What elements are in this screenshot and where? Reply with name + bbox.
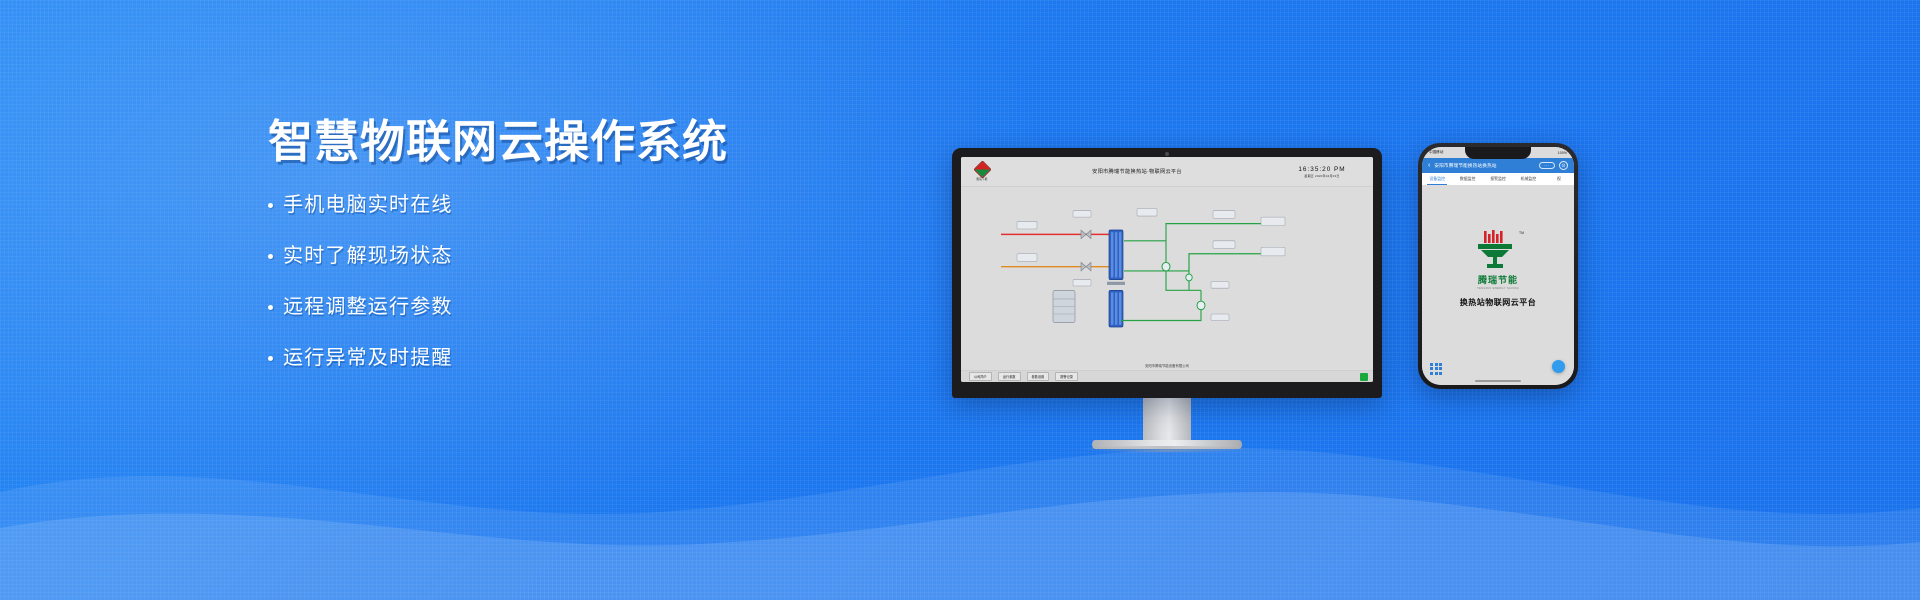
monitor-screen: 腾瑞节能 安阳市腾瑞节能换热站·物联网云平台 16:35:20 PM 星期五 2…: [961, 157, 1373, 382]
page-title: 智慧物联网云操作系统: [268, 118, 788, 165]
bullet-dot-icon: [268, 305, 273, 310]
scada-app-header: 腾瑞节能 安阳市腾瑞节能换热站·物联网云平台 16:35:20 PM 星期五 2…: [961, 157, 1373, 187]
feature-label: 远程调整运行参数: [283, 297, 453, 317]
hero-copy: 智慧物联网云操作系统 手机电脑实时在线 实时了解现场状态 远程调整运行参数 运行…: [268, 118, 788, 399]
grid-menu-icon[interactable]: [1430, 363, 1442, 375]
process-flow-diagram: [961, 187, 1373, 370]
list-item: 运行异常及时提醒: [268, 348, 788, 368]
scada-app-title: 安阳市腾瑞节能换热站·物联网云平台: [995, 168, 1279, 175]
bullet-dot-icon: [268, 254, 273, 259]
list-item: 远程调整运行参数: [268, 297, 788, 317]
monitor-base-shadow: [1078, 446, 1256, 452]
carrier-label: 中国移动: [1429, 150, 1443, 155]
feature-list: 手机电脑实时在线 实时了解现场状态 远程调整运行参数 运行异常及时提醒: [268, 195, 788, 368]
diamond-logo-icon: [973, 160, 991, 178]
monitor-bezel: 腾瑞节能 安阳市腾瑞节能换热站·物联网云平台 16:35:20 PM 星期五 2…: [952, 148, 1382, 398]
scada-app-footer: 公司简介 运行参数 参数设置 报警记录: [961, 370, 1373, 382]
bullet-dot-icon: [268, 203, 273, 208]
battery-label: 100%: [1558, 151, 1567, 155]
phone-nav-title: 安阳市腾瑞节能换热站换热站: [1434, 163, 1535, 169]
status-indicator: [1360, 373, 1368, 381]
tab-alarm-monitor[interactable]: 报警监控: [1483, 176, 1513, 182]
phone-notch: [1465, 147, 1531, 159]
tengrui-logo-icon: [1472, 230, 1518, 270]
trademark-symbol: TM: [1519, 231, 1524, 235]
webcam-icon: [1165, 152, 1169, 156]
desktop-monitor-mockup: 腾瑞节能 安阳市腾瑞节能换热站·物联网云平台 16:35:20 PM 星期五 2…: [952, 148, 1382, 452]
scada-diagram-area: [961, 187, 1373, 370]
footer-button[interactable]: 公司简介: [969, 372, 992, 381]
hero-banner: 智慧物联网云操作系统 手机电脑实时在线 实时了解现场状态 远程调整运行参数 运行…: [0, 0, 1920, 600]
title-strong: 智慧物联网云: [268, 116, 544, 167]
clock-time: 16:35:20 PM: [1279, 166, 1365, 173]
bullet-dot-icon: [268, 356, 273, 361]
clock-date: 星期五 2020年04月03日: [1279, 174, 1365, 178]
tab-device-monitor[interactable]: 设备监控: [1422, 176, 1452, 182]
feature-label: 运行异常及时提醒: [283, 348, 453, 368]
footer-button[interactable]: 参数设置: [1027, 372, 1050, 381]
tab-machine-monitor[interactable]: 机械监控: [1513, 176, 1543, 182]
brand-company-name: 腾瑞节能: [1422, 273, 1574, 286]
gear-icon[interactable]: ⊙: [1559, 161, 1568, 170]
phone-body: 中国移动 100% ‹ 安阳市腾瑞节能换热站换热站 ··· ⊙ 设备监控 数据监…: [1418, 143, 1578, 389]
more-options-icon[interactable]: ···: [1539, 162, 1555, 169]
list-item: 手机电脑实时在线: [268, 195, 788, 215]
feature-label: 实时了解现场状态: [283, 246, 453, 266]
home-indicator: [1475, 380, 1521, 382]
tab-video-monitor[interactable]: 视: [1544, 176, 1574, 182]
mobile-phone-mockup: 中国移动 100% ‹ 安阳市腾瑞节能换热站换热站 ··· ⊙ 设备监控 数据监…: [1418, 143, 1578, 389]
feature-label: 手机电脑实时在线: [283, 195, 453, 215]
phone-brand-block: TM 腾瑞节能 TENGRUI ENERGY SAVING 换热站物联网云平台: [1422, 230, 1574, 308]
brand-pinyin: TENGRUI ENERGY SAVING: [1422, 287, 1574, 290]
company-logo: 腾瑞节能: [969, 163, 995, 181]
clock-widget: 16:35:20 PM 星期五 2020年04月03日: [1279, 166, 1365, 178]
footer-button[interactable]: 运行参数: [998, 372, 1021, 381]
title-rest: 操作系统: [544, 116, 728, 167]
phone-content-area: TM 腾瑞节能 TENGRUI ENERGY SAVING 换热站物联网云平台: [1422, 186, 1574, 385]
brand-logo: TM: [1422, 230, 1574, 270]
monitor-stand-neck: [1143, 398, 1191, 440]
copyright-text: 安阳市腾瑞节能设备有限公司: [961, 363, 1373, 368]
brand-platform-name: 换热站物联网云平台: [1422, 297, 1574, 308]
back-arrow-icon[interactable]: ‹: [1428, 162, 1430, 169]
phone-tab-bar: 设备监控 数据监控 报警监控 机械监控 视: [1422, 173, 1574, 186]
phone-nav-bar: ‹ 安阳市腾瑞节能换热站换热站 ··· ⊙: [1422, 158, 1574, 173]
tab-data-monitor[interactable]: 数据监控: [1452, 176, 1482, 182]
phone-screen: 中国移动 100% ‹ 安阳市腾瑞节能换热站换热站 ··· ⊙ 设备监控 数据监…: [1422, 147, 1574, 385]
floating-action-button[interactable]: [1552, 360, 1565, 373]
footer-button[interactable]: 报警记录: [1055, 372, 1078, 381]
list-item: 实时了解现场状态: [268, 246, 788, 266]
